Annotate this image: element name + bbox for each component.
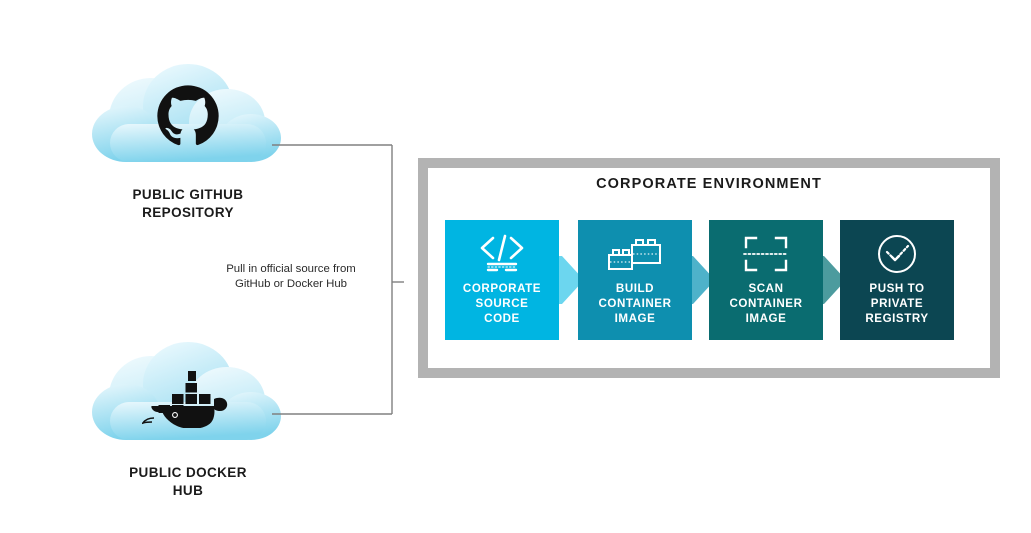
diagram-canvas: PUBLIC GITHUBREPOSITORY xyxy=(0,0,1031,533)
source-label-line1: PUBLIC DOCKER xyxy=(129,465,247,480)
source-label-line1: PUBLIC GITHUB xyxy=(133,187,244,202)
corporate-environment-title: CORPORATE ENVIRONMENT xyxy=(418,176,1000,192)
pipeline-stage-label: PUSH TO PRIVATE REGISTRY xyxy=(865,282,928,326)
pipeline-stage-label: SCAN CONTAINER IMAGE xyxy=(729,282,802,326)
pipeline-stage-label: CORPORATE SOURCE CODE xyxy=(463,282,541,326)
pipeline-stage-scan-image[interactable]: SCAN CONTAINER IMAGE xyxy=(709,220,823,340)
pipeline-stage-build-image[interactable]: BUILD CONTAINER IMAGE xyxy=(578,220,692,340)
source-label-line2: HUB xyxy=(173,483,203,498)
source-label-github: PUBLIC GITHUBREPOSITORY xyxy=(88,186,288,222)
source-node-dockerhub: PUBLIC DOCKERHUB xyxy=(88,340,288,500)
pipeline-stage-label: BUILD CONTAINER IMAGE xyxy=(598,282,671,326)
github-icon xyxy=(88,84,288,148)
source-node-github: PUBLIC GITHUBREPOSITORY xyxy=(88,62,288,222)
connector-caption-line2: GitHub or Docker Hub xyxy=(235,278,347,290)
docker-whale-icon xyxy=(88,366,288,428)
container-blocks-icon xyxy=(606,231,664,277)
connector-caption: Pull in official source from GitHub or D… xyxy=(196,262,386,292)
source-label-dockerhub: PUBLIC DOCKERHUB xyxy=(88,464,288,500)
scan-frame-icon xyxy=(742,231,790,277)
check-circle-icon xyxy=(874,231,920,277)
cloud-shape-dockerhub xyxy=(88,340,288,458)
code-brackets-icon xyxy=(475,231,529,277)
source-label-line2: REPOSITORY xyxy=(142,205,234,220)
pipeline-stage-source-code[interactable]: CORPORATE SOURCE CODE xyxy=(445,220,559,340)
connector-caption-line1: Pull in official source from xyxy=(226,263,356,275)
pipeline-stage-push-registry[interactable]: PUSH TO PRIVATE REGISTRY xyxy=(840,220,954,340)
cloud-shape-github xyxy=(88,62,288,180)
